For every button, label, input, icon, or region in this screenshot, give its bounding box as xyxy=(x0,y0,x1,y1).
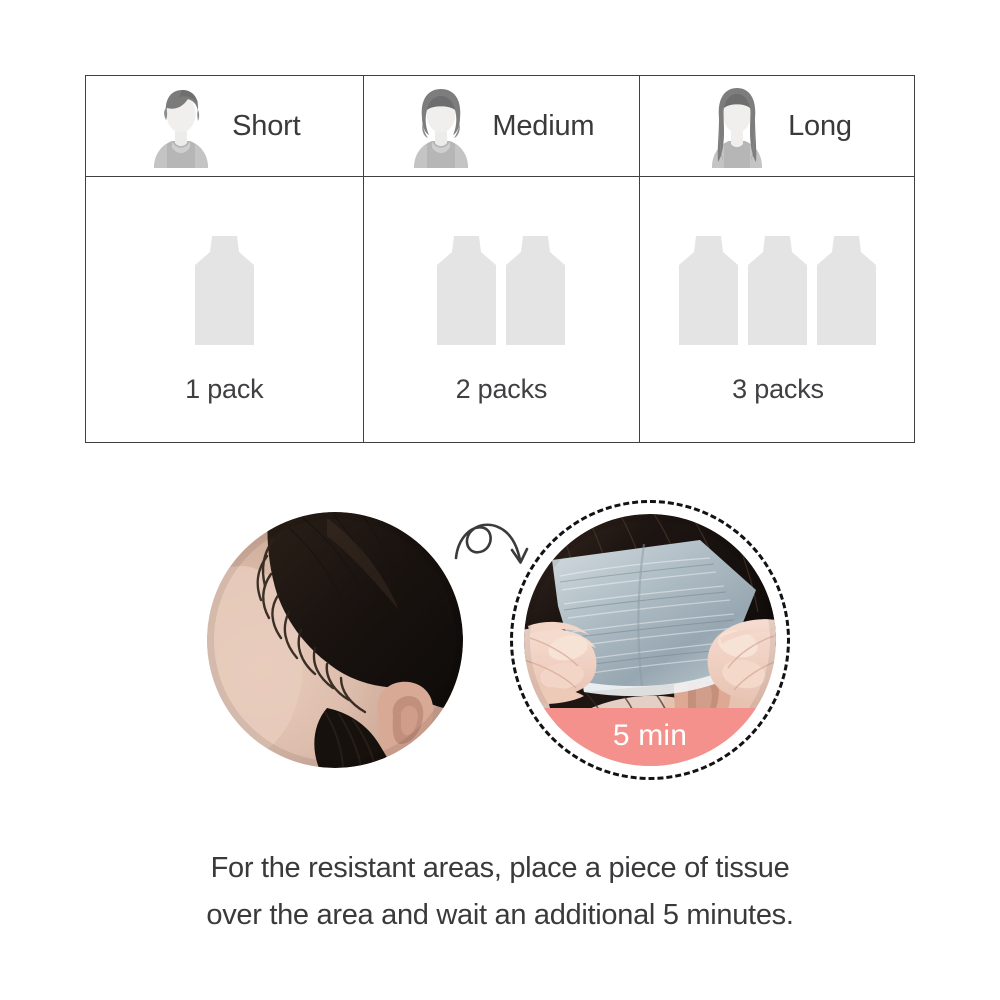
pack-count-label-short: 1 pack xyxy=(185,374,263,405)
avatar-long-hair-icon xyxy=(704,84,770,168)
table-header-cell-medium: Medium xyxy=(363,76,640,176)
avatar-short-hair-icon xyxy=(148,84,214,168)
table-body-cell-short: 1 pack xyxy=(86,177,363,442)
after-photo-circle: 5 min xyxy=(524,514,776,766)
table-header-row: Short xyxy=(86,76,914,177)
hair-length-pack-table: Short xyxy=(85,75,915,443)
pack-sachet-icon xyxy=(193,234,256,347)
timer-badge: 5 min xyxy=(524,708,776,766)
pack-group-short xyxy=(193,225,256,347)
pack-sachet-icon xyxy=(504,234,567,347)
pack-sachet-icon xyxy=(677,234,740,347)
after-photo-circle-wrap: 5 min xyxy=(510,500,790,780)
caption-line-2: over the area and wait an additional 5 m… xyxy=(0,892,1000,939)
pack-sachet-icon xyxy=(435,234,498,347)
hair-length-label-medium: Medium xyxy=(492,110,594,143)
hair-length-label-short: Short xyxy=(232,110,300,143)
pack-count-label-long: 3 packs xyxy=(732,374,824,405)
caption-line-1: For the resistant areas, place a piece o… xyxy=(0,845,1000,892)
pack-group-medium xyxy=(435,225,567,347)
pack-count-label-medium: 2 packs xyxy=(456,374,548,405)
hair-length-label-long: Long xyxy=(788,110,852,143)
table-body-cell-medium: 2 packs xyxy=(363,177,640,442)
table-header-cell-long: Long xyxy=(639,76,916,176)
instruction-caption: For the resistant areas, place a piece o… xyxy=(0,845,1000,939)
pack-group-long xyxy=(677,225,878,347)
table-body-row: 1 pack 2 packs xyxy=(86,177,914,442)
page-root: Short xyxy=(0,0,1000,1000)
before-photo-circle xyxy=(207,512,463,768)
pack-sachet-icon xyxy=(746,234,809,347)
avatar-medium-hair-icon xyxy=(408,84,474,168)
hairline-closeup-photo xyxy=(207,512,463,768)
application-step-photos: 5 min xyxy=(0,490,1000,810)
table-header-cell-short: Short xyxy=(86,76,363,176)
table-body-cell-long: 3 packs xyxy=(639,177,916,442)
pack-sachet-icon xyxy=(815,234,878,347)
timer-badge-label: 5 min xyxy=(613,719,687,753)
